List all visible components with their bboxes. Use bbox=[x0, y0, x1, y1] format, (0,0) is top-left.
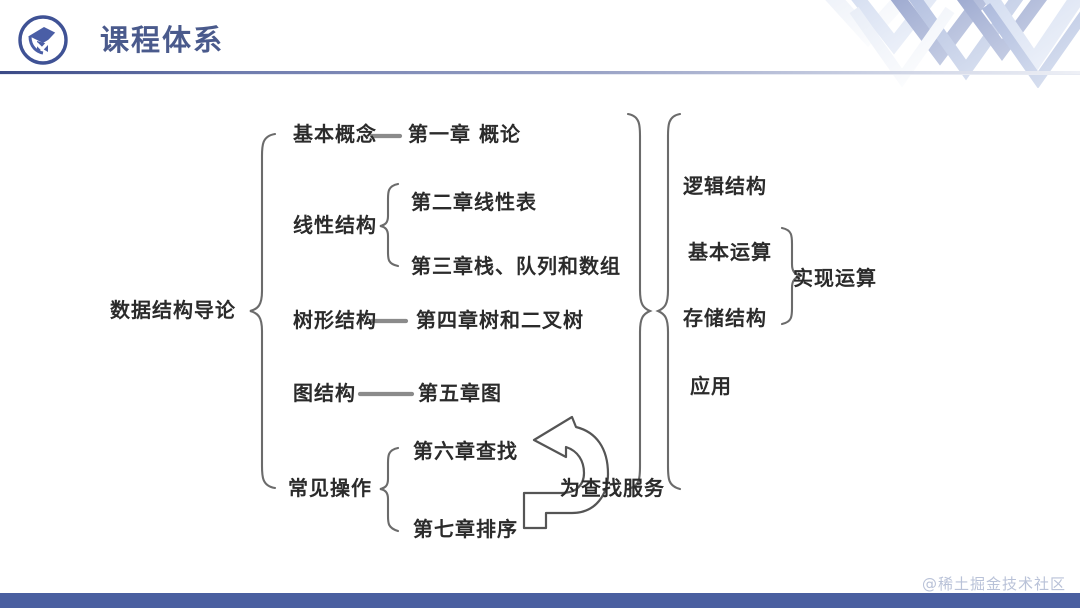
arrow-annotation-serves-search: 为查找服务 bbox=[560, 476, 665, 500]
watermark: @稀土掘金技术社区 bbox=[922, 573, 1066, 594]
chapter-4: 第四章树和二叉树 bbox=[416, 308, 584, 332]
chapter-1: 第一章 概论 bbox=[408, 122, 521, 146]
right-item-application: 应用 bbox=[690, 374, 732, 398]
graduation-cap-badge-icon bbox=[17, 14, 69, 66]
branch-label-common-operations: 常见操作 bbox=[288, 476, 372, 500]
header-divider-shadow bbox=[0, 74, 1080, 75]
chapter-7: 第七章排序 bbox=[413, 517, 518, 541]
branch-label-tree-structure: 树形结构 bbox=[293, 308, 377, 332]
page-title: 课程体系 bbox=[100, 20, 224, 60]
branch-label-graph-structure: 图结构 bbox=[293, 381, 356, 405]
right-item-logical-structure: 逻辑结构 bbox=[683, 174, 767, 198]
chapter-3: 第三章栈、队列和数组 bbox=[411, 254, 621, 278]
branch-label-linear-structure: 线性结构 bbox=[293, 213, 377, 237]
diagram-root-node: 数据结构导论 bbox=[110, 298, 236, 322]
slide-header: 课程体系 bbox=[0, 0, 1080, 74]
branch-label-basic-concept: 基本概念 bbox=[293, 122, 377, 146]
footer-bar bbox=[0, 593, 1080, 608]
chapter-2: 第二章线性表 bbox=[411, 190, 537, 214]
chapter-6: 第六章查找 bbox=[413, 439, 518, 463]
course-structure-diagram: 数据结构导论 基本概念 线性结构 树形结构 图结构 常见操作 第一章 概论 第二… bbox=[0, 76, 1080, 576]
slide-canvas: 课程体系 bbox=[0, 0, 1080, 608]
right-item-storage-structure: 存储结构 bbox=[683, 306, 767, 330]
right-group-label-implement-operations: 实现运算 bbox=[793, 266, 877, 290]
chapter-5: 第五章图 bbox=[418, 381, 502, 405]
right-item-basic-operations: 基本运算 bbox=[688, 240, 772, 264]
